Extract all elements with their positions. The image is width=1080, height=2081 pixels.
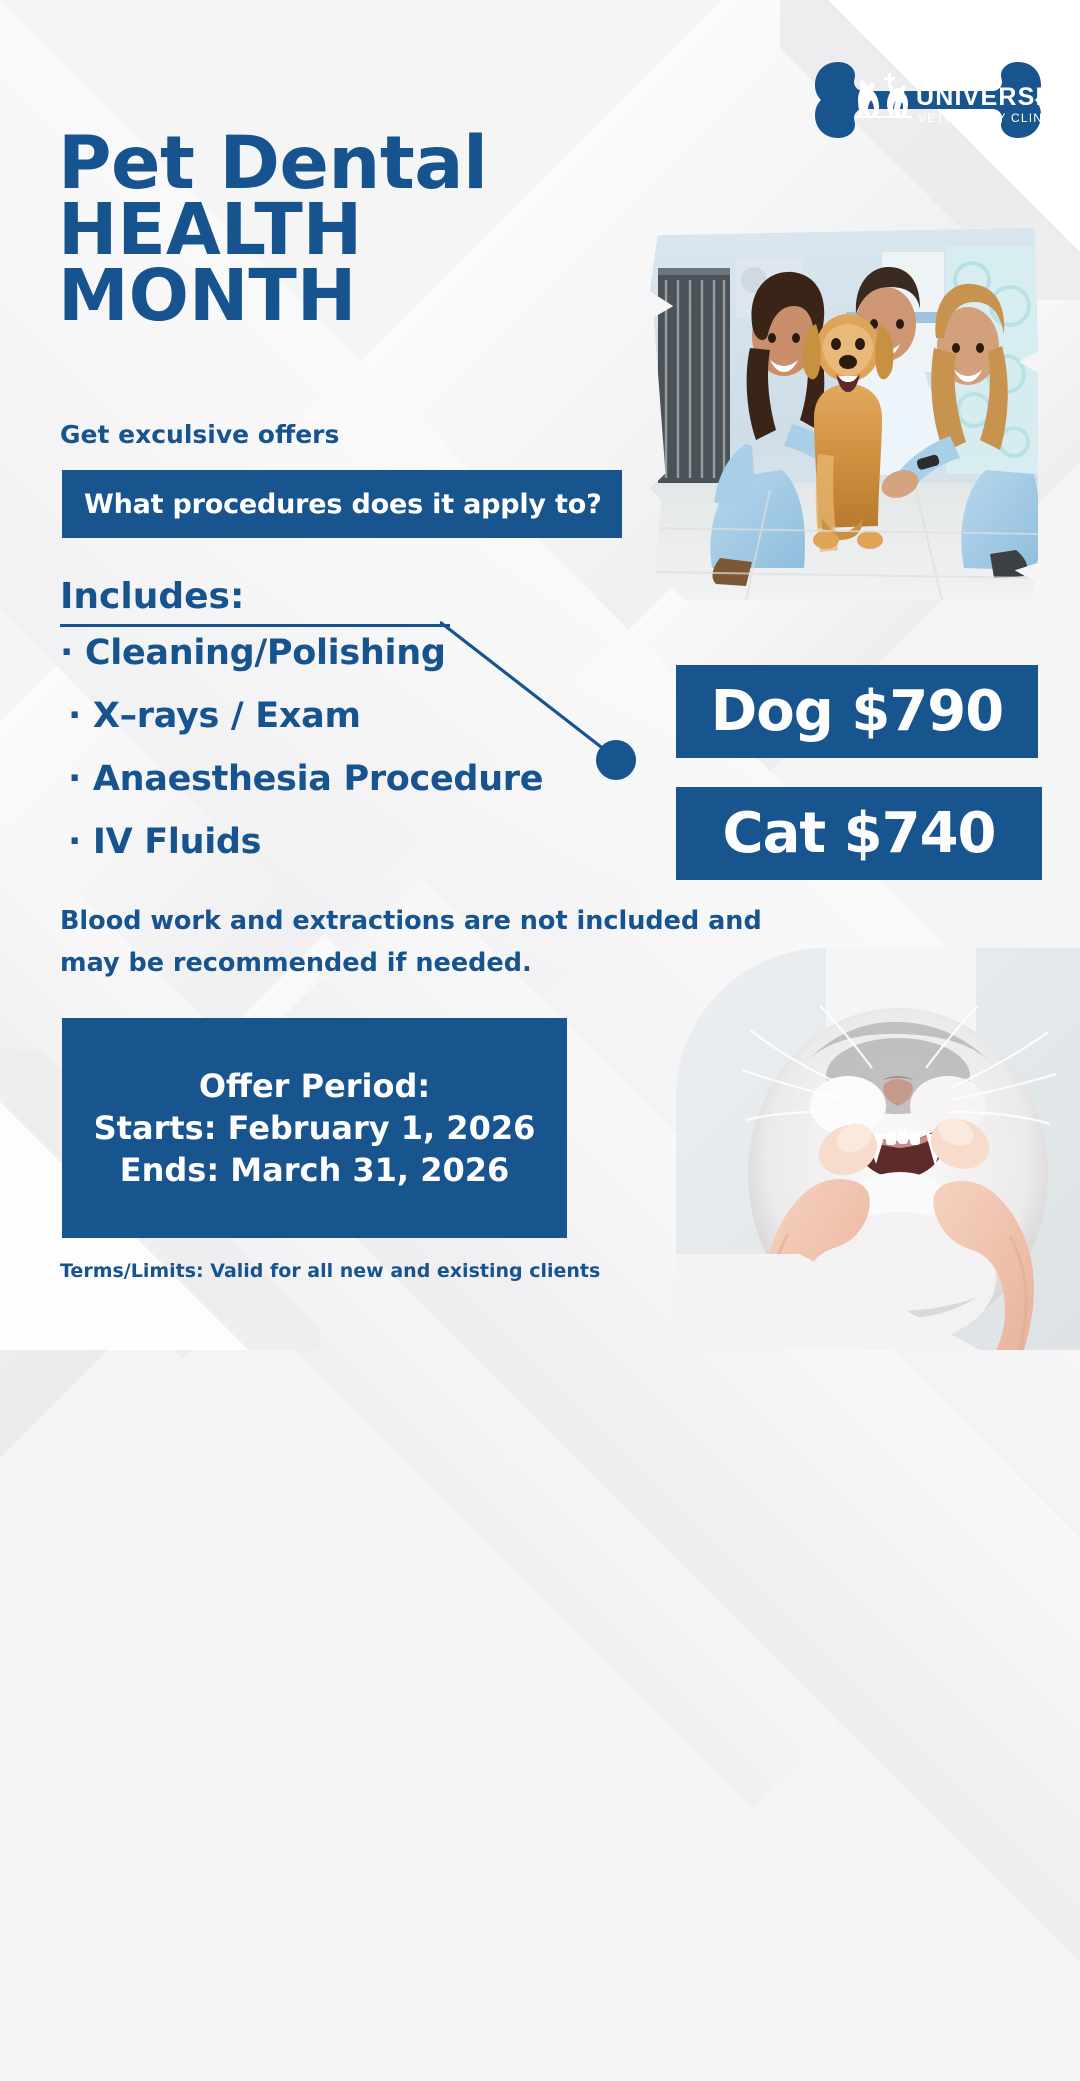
question-banner-label: What procedures does it apply to? <box>62 489 602 520</box>
includes-underline <box>60 624 450 627</box>
price-badge-dog-label: Dog $790 <box>711 679 1003 744</box>
list-item: · Cleaning/Polishing <box>60 636 660 671</box>
disclaimer-text: Blood work and extractions are not inclu… <box>60 900 780 984</box>
price-badge-cat-label: Cat $740 <box>722 801 995 866</box>
logo-name-line2: VETERINARY CLINIC, Ltd. <box>918 111 1048 125</box>
page-title: Pet Dental HEALTH MONTH <box>58 130 488 331</box>
medical-cross-icon <box>884 73 895 84</box>
list-item: · IV Fluids <box>60 825 660 860</box>
cat-photo-bottom-cut <box>676 1254 1080 1350</box>
offer-period-start: Starts: February 1, 2026 <box>94 1109 536 1147</box>
list-item: · Anaesthesia Procedure <box>60 762 660 797</box>
headline-line-2: HEALTH <box>58 197 488 262</box>
veterinary-team-photo-image <box>650 228 1038 600</box>
price-badge-dog: Dog $790 <box>676 665 1038 758</box>
logo-name-line1: UNIVERSITY <box>916 83 1048 111</box>
list-item: · X–rays / Exam <box>60 699 660 734</box>
offer-period-box: Offer Period: Starts: February 1, 2026 E… <box>62 1018 567 1238</box>
price-badge-cat: Cat $740 <box>676 787 1042 880</box>
veterinary-team-photo <box>650 228 1038 600</box>
subtitle-text: Get exculsive offers <box>60 420 339 449</box>
dog-silhouette-icon <box>855 80 881 118</box>
offer-period-end: Ends: March 31, 2026 <box>120 1151 510 1189</box>
question-banner: What procedures does it apply to? <box>62 470 622 538</box>
headline-line-3: MONTH <box>58 262 488 330</box>
clinic-logo: UNIVERSITY VETERINARY CLINIC, Ltd. <box>808 48 1048 153</box>
headline-line-1: Pet Dental <box>58 130 488 197</box>
terms-text: Terms/Limits: Valid for all new and exis… <box>60 1260 600 1282</box>
offer-period-title: Offer Period: <box>199 1067 430 1105</box>
includes-heading: Includes: <box>60 576 244 617</box>
includes-list: · Cleaning/Polishing · X–rays / Exam · A… <box>60 636 660 888</box>
